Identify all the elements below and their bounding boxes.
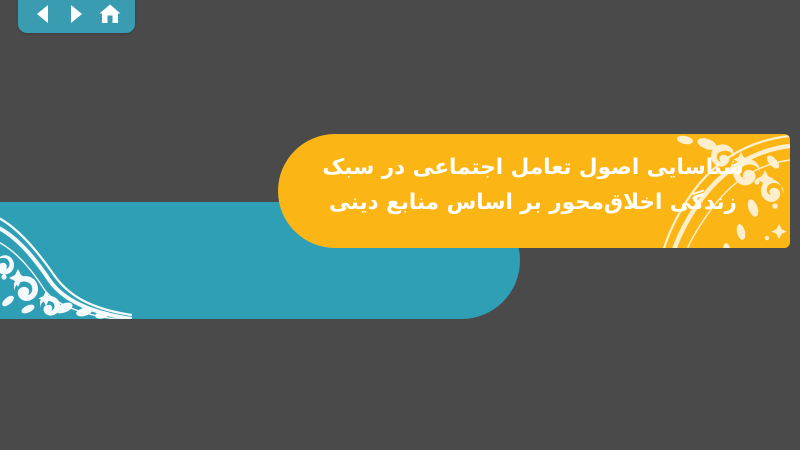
slide-canvas: شناسایی اصول تعامل اجتماعی در سبک زندگی … — [0, 0, 800, 450]
triangle-right-icon — [67, 4, 85, 24]
home-button[interactable] — [97, 1, 123, 27]
home-icon — [98, 3, 122, 25]
navigation-bar — [18, 0, 135, 33]
next-button[interactable] — [63, 1, 89, 27]
title-line-2: زندگی اخلاق‌محور بر اساس منابع دینی — [298, 185, 768, 220]
previous-button[interactable] — [30, 1, 56, 27]
triangle-left-icon — [34, 4, 52, 24]
slide-title: شناسایی اصول تعامل اجتماعی در سبک زندگی … — [298, 150, 768, 220]
teal-arabesque-ornament — [0, 209, 132, 319]
title-line-1: شناسایی اصول تعامل اجتماعی در سبک — [298, 150, 768, 185]
